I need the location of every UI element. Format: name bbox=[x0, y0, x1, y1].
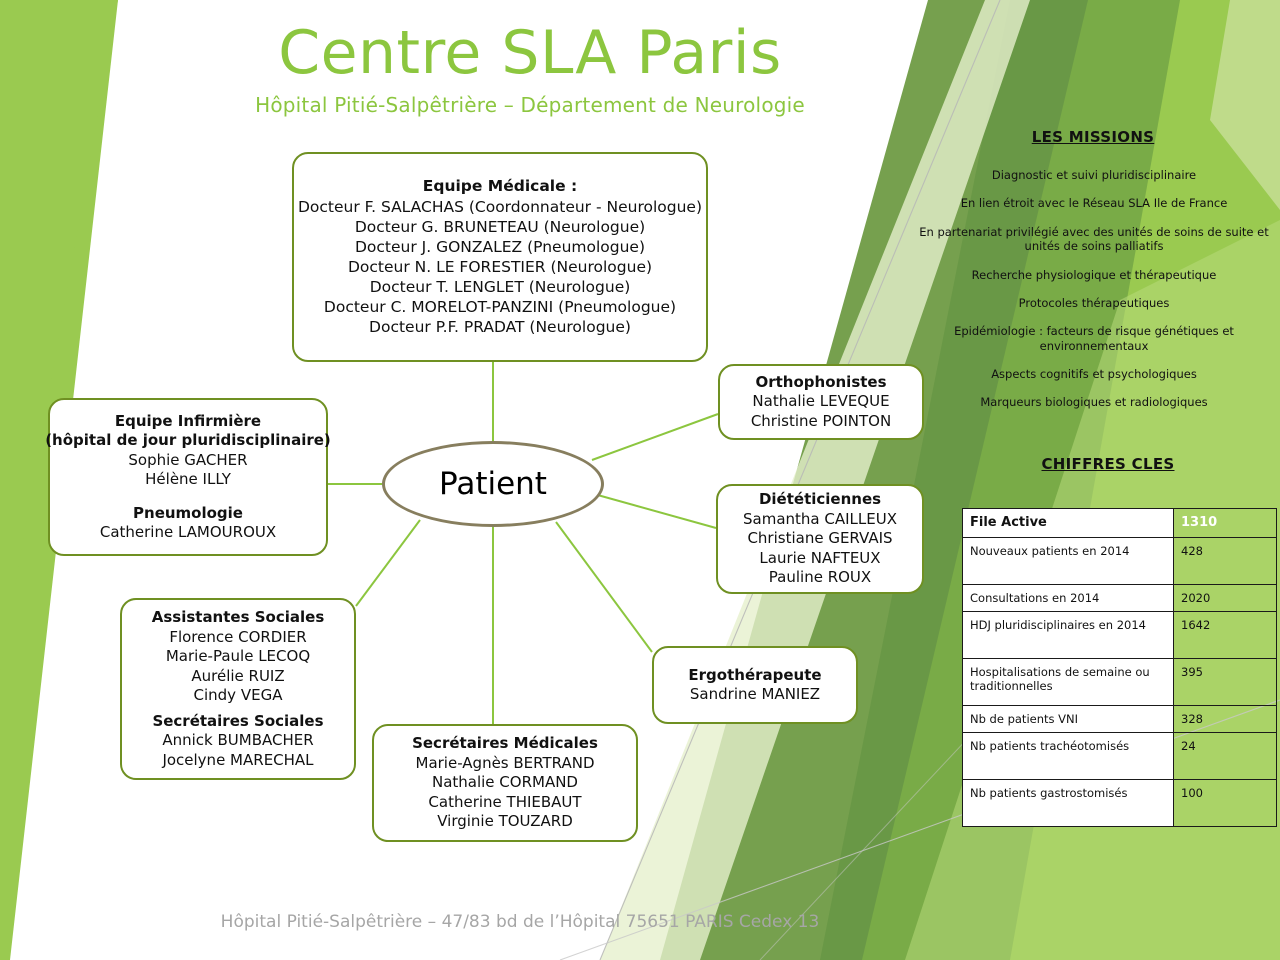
row-value: 100 bbox=[1174, 779, 1277, 826]
row-label: Nb patients trachéotomisés bbox=[963, 732, 1174, 779]
node-heading: Orthophonistes bbox=[755, 373, 886, 393]
node-line: Christine POINTON bbox=[751, 412, 891, 432]
node-line: Docteur G. BRUNETEAU (Neurologue) bbox=[355, 217, 645, 237]
chiffres-cles-table: File Active 1310 Nouveaux patients en 20… bbox=[962, 508, 1277, 827]
row-value: 428 bbox=[1174, 537, 1277, 584]
mission-item: Recherche physiologique et thérapeutique bbox=[910, 268, 1278, 282]
row-label: Nb patients gastrostomisés bbox=[963, 779, 1174, 826]
row-label: Consultations en 2014 bbox=[963, 584, 1174, 611]
connector-dieteticiennes bbox=[594, 494, 716, 528]
row-value: 395 bbox=[1174, 658, 1277, 705]
node-line: Hélène ILLY bbox=[145, 470, 231, 490]
row-label: HDJ pluridisciplinaires en 2014 bbox=[963, 611, 1174, 658]
row-label: Nouveaux patients en 2014 bbox=[963, 537, 1174, 584]
node-line: Sophie GACHER bbox=[128, 451, 247, 471]
patient-label: Patient bbox=[439, 466, 547, 502]
table-row: Nb patients gastrostomisés 100 bbox=[963, 779, 1277, 826]
node-orthophonistes[interactable]: Orthophonistes Nathalie LEVEQUE Christin… bbox=[718, 364, 924, 440]
node-heading: Secrétaires Médicales bbox=[412, 734, 598, 754]
node-dieteticiennes[interactable]: Diététiciennes Samantha CAILLEUX Christi… bbox=[716, 484, 924, 594]
node-line: Cindy VEGA bbox=[194, 686, 283, 706]
node-line: Docteur P.F. PRADAT (Neurologue) bbox=[369, 317, 631, 337]
node-patient[interactable]: Patient bbox=[382, 441, 604, 527]
node-line: Docteur C. MORELOT-PANZINI (Pneumologue) bbox=[324, 297, 676, 317]
connector-ergo bbox=[556, 522, 652, 652]
node-line: Christiane GERVAIS bbox=[747, 529, 892, 549]
node-heading: Assistantes Sociales bbox=[152, 608, 325, 628]
node-line: Laurie NAFTEUX bbox=[759, 549, 880, 569]
node-heading-pneumologie: Pneumologie bbox=[133, 504, 243, 524]
connector-sociales bbox=[356, 520, 420, 606]
node-heading: Diététiciennes bbox=[759, 490, 881, 510]
row-value: 1310 bbox=[1174, 509, 1277, 538]
mission-item: Protocoles thérapeutiques bbox=[910, 296, 1278, 310]
node-equipe-infirmiere[interactable]: Equipe Infirmière (hôpital de jour pluri… bbox=[48, 398, 328, 556]
mission-item: Aspects cognitifs et psychologiques bbox=[910, 367, 1278, 381]
table-row: HDJ pluridisciplinaires en 2014 1642 bbox=[963, 611, 1277, 658]
node-line: Docteur N. LE FORESTIER (Neurologue) bbox=[348, 257, 652, 277]
node-line: Sandrine MANIEZ bbox=[690, 685, 820, 705]
mission-item: Epidémiologie : facteurs de risque génét… bbox=[910, 324, 1278, 353]
node-line: Catherine THIEBAUT bbox=[428, 793, 581, 813]
table-row: Hospitalisations de semaine ou tradition… bbox=[963, 658, 1277, 705]
node-line: Samantha CAILLEUX bbox=[743, 510, 897, 530]
node-line: Jocelyne MARECHAL bbox=[162, 751, 313, 771]
node-subheading: (hôpital de jour pluridisciplinaire) bbox=[45, 431, 331, 451]
node-line: Virginie TOUZARD bbox=[437, 812, 573, 832]
mission-item: Marqueurs biologiques et radiologiques bbox=[910, 395, 1278, 409]
table-row: Consultations en 2014 2020 bbox=[963, 584, 1277, 611]
connector-orthophonistes bbox=[592, 414, 718, 460]
node-line: Florence CORDIER bbox=[169, 628, 306, 648]
mission-item: En partenariat privilégié avec des unité… bbox=[910, 225, 1278, 254]
page-subtitle: Hôpital Pitié-Salpêtrière – Département … bbox=[0, 93, 1060, 117]
table-row: Nb de patients VNI 328 bbox=[963, 705, 1277, 732]
node-assistantes-sociales[interactable]: Assistantes Sociales Florence CORDIER Ma… bbox=[120, 598, 356, 780]
node-line: Nathalie LEVEQUE bbox=[752, 392, 889, 412]
row-value: 328 bbox=[1174, 705, 1277, 732]
mission-item: En lien étroit avec le Réseau SLA Ile de… bbox=[910, 196, 1278, 210]
node-ergotherapeute[interactable]: Ergothérapeute Sandrine MANIEZ bbox=[652, 646, 858, 724]
page-title: Centre SLA Paris bbox=[0, 22, 1060, 85]
node-secretaires-medicales[interactable]: Secrétaires Médicales Marie-Agnès BERTRA… bbox=[372, 724, 638, 842]
node-line: Marie-Paule LECOQ bbox=[166, 647, 310, 667]
row-label: File Active bbox=[963, 509, 1174, 538]
node-line: Catherine LAMOUROUX bbox=[100, 523, 276, 543]
missions-list: Diagnostic et suivi pluridisciplinaire E… bbox=[910, 168, 1278, 424]
node-line: Docteur F. SALACHAS (Coordonnateur - Neu… bbox=[298, 197, 702, 217]
row-value: 2020 bbox=[1174, 584, 1277, 611]
node-line: Nathalie CORMAND bbox=[432, 773, 578, 793]
node-line: Docteur J. GONZALEZ (Pneumologue) bbox=[355, 237, 645, 257]
node-line: Annick BUMBACHER bbox=[162, 731, 313, 751]
table-row: Nb patients trachéotomisés 24 bbox=[963, 732, 1277, 779]
row-value: 1642 bbox=[1174, 611, 1277, 658]
node-line: Aurélie RUIZ bbox=[191, 667, 284, 687]
row-label: Hospitalisations de semaine ou tradition… bbox=[963, 658, 1174, 705]
node-heading: Equipe Médicale : bbox=[423, 176, 577, 196]
row-label: Nb de patients VNI bbox=[963, 705, 1174, 732]
slide: Centre SLA Paris Hôpital Pitié-Salpêtriè… bbox=[0, 0, 1280, 960]
mission-item: Diagnostic et suivi pluridisciplinaire bbox=[910, 168, 1278, 182]
row-value: 24 bbox=[1174, 732, 1277, 779]
node-line: Pauline ROUX bbox=[769, 568, 871, 588]
missions-title: LES MISSIONS bbox=[938, 128, 1248, 146]
chiffres-cles-title: CHIFFRES CLES bbox=[958, 455, 1258, 473]
node-line: Docteur T. LENGLET (Neurologue) bbox=[370, 277, 631, 297]
node-heading: Equipe Infirmière bbox=[115, 412, 261, 432]
header: Centre SLA Paris Hôpital Pitié-Salpêtriè… bbox=[0, 22, 1060, 117]
node-line: Marie-Agnès BERTRAND bbox=[416, 754, 595, 774]
footer-address: Hôpital Pitié-Salpêtrière – 47/83 bd de … bbox=[0, 912, 1040, 932]
table-row: File Active 1310 bbox=[963, 509, 1277, 538]
node-equipe-medicale[interactable]: Equipe Médicale : Docteur F. SALACHAS (C… bbox=[292, 152, 708, 362]
node-heading: Ergothérapeute bbox=[688, 666, 821, 686]
node-heading-secretaires-sociales: Secrétaires Sociales bbox=[152, 712, 323, 732]
table-row: Nouveaux patients en 2014 428 bbox=[963, 537, 1277, 584]
